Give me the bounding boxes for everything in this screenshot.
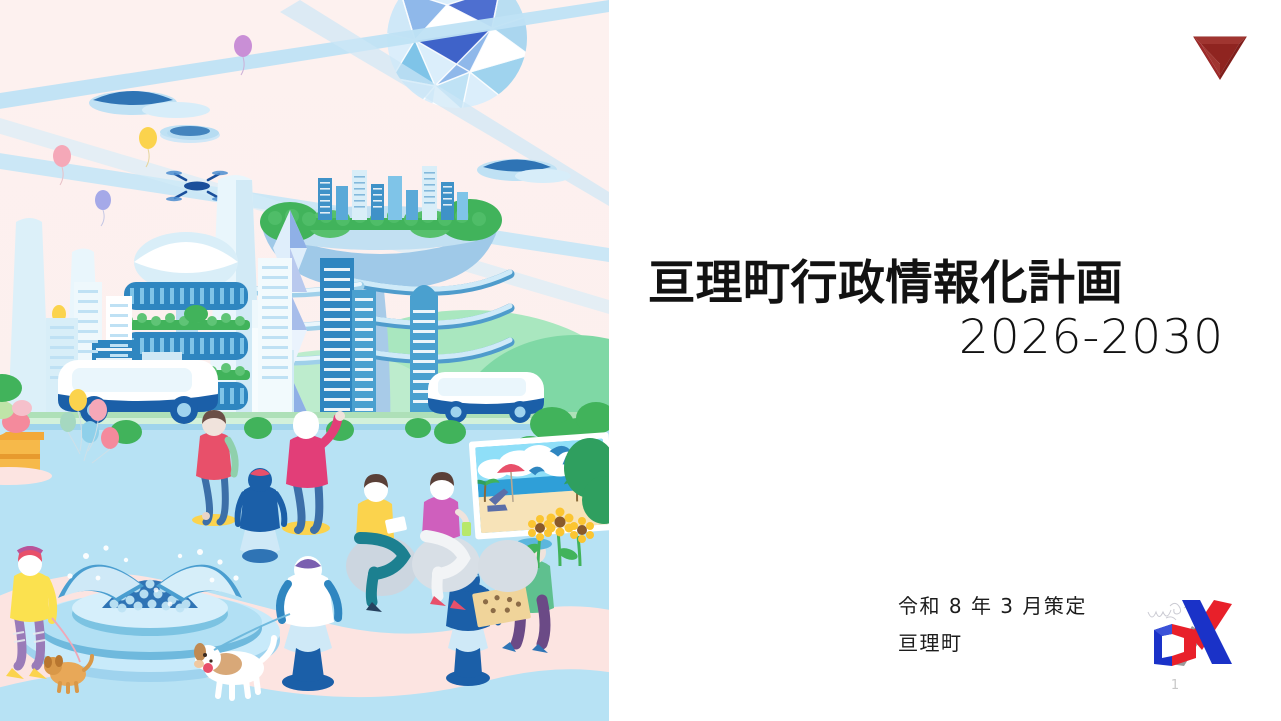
page-title: 亘理町行政情報化計画 bbox=[648, 258, 1224, 311]
cover-slide: 亘理町行政情報化計画 2026-2030 令和 8 年 3 月策定 亘理町 1 bbox=[0, 0, 1281, 721]
publication-meta: 令和 8 年 3 月策定 亘理町 bbox=[898, 588, 1087, 662]
publication-date: 令和 8 年 3 月策定 bbox=[898, 588, 1087, 625]
page-number: 1 bbox=[1163, 678, 1187, 693]
publishing-organization: 亘理町 bbox=[898, 625, 1087, 662]
watari-dx-logo bbox=[1140, 572, 1244, 670]
cover-illustration bbox=[0, 0, 609, 721]
page-subtitle-years: 2026-2030 bbox=[648, 313, 1224, 364]
watari-town-emblem-icon bbox=[1191, 33, 1249, 81]
title-block: 亘理町行政情報化計画 2026-2030 bbox=[648, 258, 1224, 363]
